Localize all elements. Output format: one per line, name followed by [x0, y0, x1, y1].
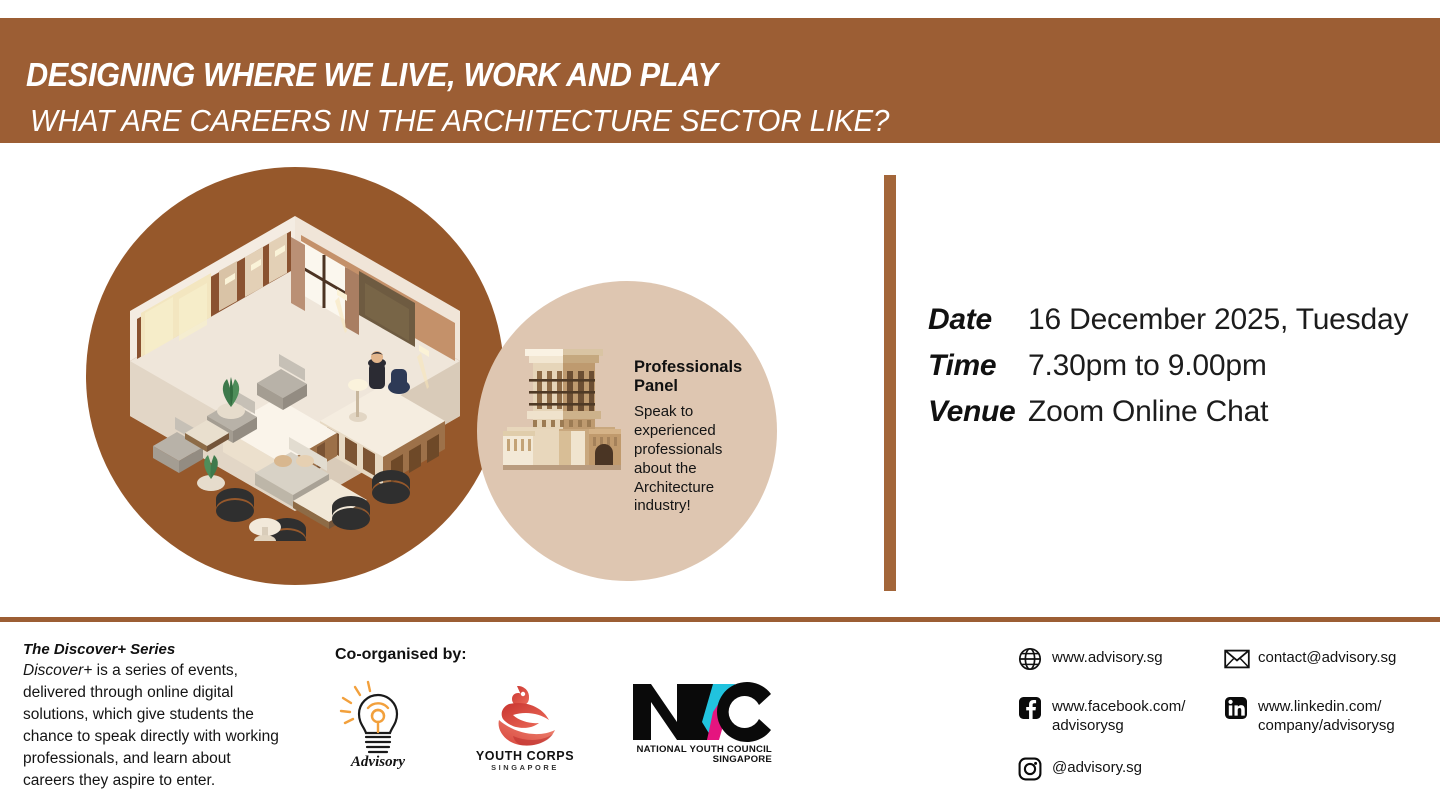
envelope-icon [1224, 644, 1254, 674]
page-title-secondary: WHAT ARE CAREERS IN THE ARCHITECTURE SEC… [30, 103, 889, 139]
vertical-divider [884, 175, 896, 591]
contact-column-right: contact@advisory.sg www.linkedin.com/ co… [1224, 644, 1424, 754]
facebook-url: www.facebook.com/ advisorysg [1048, 693, 1218, 735]
event-details: Date 16 December 2025, Tuesday Time 7.30… [928, 303, 1408, 441]
venue-value: Zoom Online Chat [1028, 395, 1268, 429]
detail-row-date: Date 16 December 2025, Tuesday [928, 303, 1408, 337]
contact-instagram[interactable]: @advisory.sg [1018, 754, 1218, 784]
instagram-handle: @advisory.sg [1048, 754, 1142, 777]
discover-series-body: Discover+ is a series of events, deliver… [23, 660, 281, 792]
advisory-lightbulb-icon: Advisory [335, 678, 421, 770]
youth-corps-wordmark-line2: SINGAPORE [491, 763, 559, 772]
globe-icon [1018, 644, 1048, 674]
isometric-lobby-interior-illustration [115, 211, 475, 541]
coorganised-label: Co-organised by: [335, 646, 775, 664]
detail-row-venue: Venue Zoom Online Chat [928, 395, 1408, 429]
professionals-panel-circle: Professionals Panel Speak to experienced… [477, 281, 777, 581]
header-banner: DESIGNING WHERE WE LIVE, WORK AND PLAY W… [0, 18, 1440, 143]
panel-heading: Professionals Panel [634, 358, 746, 396]
contact-website[interactable]: www.advisory.sg [1018, 644, 1218, 674]
logo-row: Advisory [335, 678, 775, 777]
website-url: www.advisory.sg [1048, 644, 1163, 667]
lobby-illustration-circle [86, 167, 504, 585]
discover-series-block: The Discover+ Series Discover+ is a seri… [23, 641, 281, 792]
youth-corps-wordmark-line1: YOUTH CORPS [476, 749, 574, 763]
coorganised-block: Co-organised by: [335, 646, 775, 777]
facebook-icon [1018, 693, 1048, 723]
panel-description: Speak to experienced professionals about… [634, 403, 746, 516]
date-value: 16 December 2025, Tuesday [1028, 303, 1408, 337]
nyc-mark-icon: NATIONAL YOUTH COUNCIL SINGAPORE [629, 678, 775, 764]
venue-label: Venue [928, 395, 1028, 429]
panel-text-block: Professionals Panel Speak to experienced… [634, 358, 746, 516]
contact-email[interactable]: contact@advisory.sg [1224, 644, 1424, 674]
contact-linkedin[interactable]: www.linkedin.com/ company/advisorysg [1224, 693, 1424, 735]
advisory-wordmark: Advisory [350, 754, 406, 770]
youth-corps-bird-icon: YOUTH CORPS SINGAPORE [473, 678, 577, 772]
discover-series-lead: Discover+ [23, 662, 92, 679]
linkedin-url: www.linkedin.com/ company/advisorysg [1254, 693, 1424, 735]
youth-corps-singapore-logo: YOUTH CORPS SINGAPORE [473, 678, 577, 777]
detail-row-time: Time 7.30pm to 9.00pm [928, 349, 1408, 383]
instagram-icon [1018, 754, 1048, 784]
page-title-primary: DESIGNING WHERE WE LIVE, WORK AND PLAY [26, 56, 718, 94]
advisory-logo: Advisory [335, 678, 421, 775]
email-address: contact@advisory.sg [1254, 644, 1396, 667]
footer: The Discover+ Series Discover+ is a seri… [0, 622, 1440, 810]
architecture-windcatcher-tower-illustration [503, 341, 621, 473]
discover-series-title: The Discover+ Series [23, 641, 281, 658]
national-youth-council-logo: NATIONAL YOUTH COUNCIL SINGAPORE [629, 678, 775, 769]
discover-series-rest: is a series of events, delivered through… [23, 662, 279, 789]
contact-facebook[interactable]: www.facebook.com/ advisorysg [1018, 693, 1218, 735]
linkedin-icon [1224, 693, 1254, 723]
main-content: Professionals Panel Speak to experienced… [0, 143, 1440, 617]
date-label: Date [928, 303, 1028, 337]
time-value: 7.30pm to 9.00pm [1028, 349, 1267, 383]
contact-column-left: www.advisory.sg www.facebook.com/ adviso… [1018, 644, 1218, 803]
time-label: Time [928, 349, 1028, 383]
nyc-wordmark-line2: SINGAPORE [713, 754, 773, 764]
